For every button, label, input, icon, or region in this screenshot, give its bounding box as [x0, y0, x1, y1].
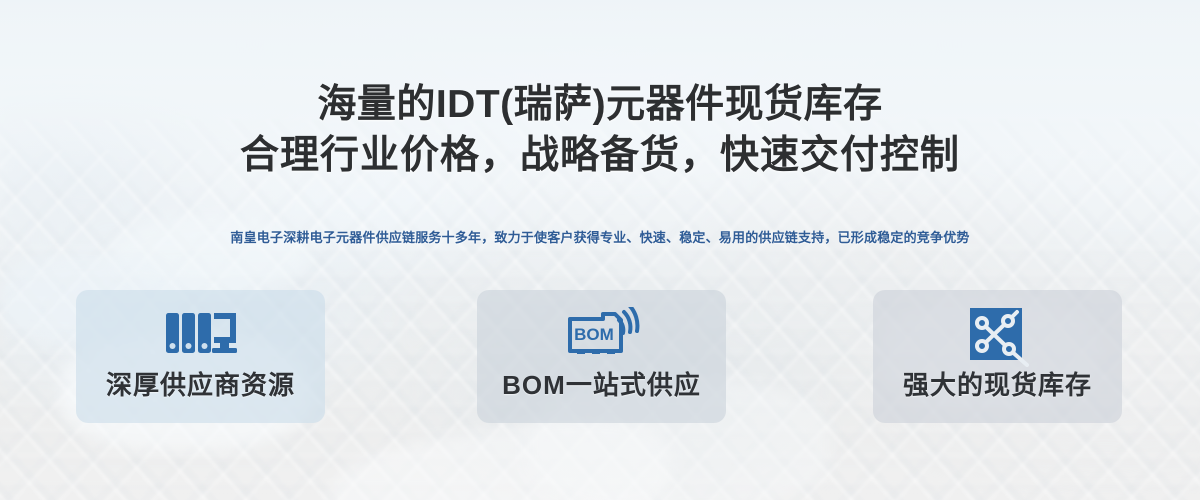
banner-headline: 海量的IDT(瑞萨)元器件现货库存 合理行业价格，战略备货，快速交付控制 — [0, 79, 1200, 181]
server-monitor-icon — [164, 302, 238, 370]
feature-card-label: 深厚供应商资源 — [106, 370, 295, 400]
feature-card-label: 强大的现货库存 — [903, 370, 1092, 400]
feature-card-supplier-resources[interactable]: 深厚供应商资源 — [76, 290, 325, 423]
headline-line-2: 合理行业价格，战略备货，快速交付控制 — [0, 130, 1200, 181]
feature-card-label: BOM一站式供应 — [502, 370, 701, 400]
banner-content: 海量的IDT(瑞萨)元器件现货库存 合理行业价格，战略备货，快速交付控制 南皇电… — [0, 0, 1200, 500]
banner-subtitle: 南皇电子深耕电子元器件供应链服务十多年，致力于使客户获得专业、快速、稳定、易用的… — [0, 229, 1200, 247]
headline-line-1: 海量的IDT(瑞萨)元器件现货库存 — [0, 79, 1200, 130]
circuit-nodes-icon — [965, 302, 1031, 370]
feature-card-bom-supply[interactable]: BOM BOM一站式供应 — [477, 290, 726, 423]
feature-card-stock-inventory[interactable]: 强大的现货库存 — [873, 290, 1122, 423]
promo-banner: 海量的IDT(瑞萨)元器件现货库存 合理行业价格，战略备货，快速交付控制 南皇电… — [0, 0, 1200, 500]
svg-text:BOM: BOM — [574, 325, 614, 344]
feature-card-list: 深厚供应商资源 BOM BOM一站式供应 — [0, 290, 1200, 425]
bom-chip-signal-icon: BOM — [563, 302, 641, 370]
